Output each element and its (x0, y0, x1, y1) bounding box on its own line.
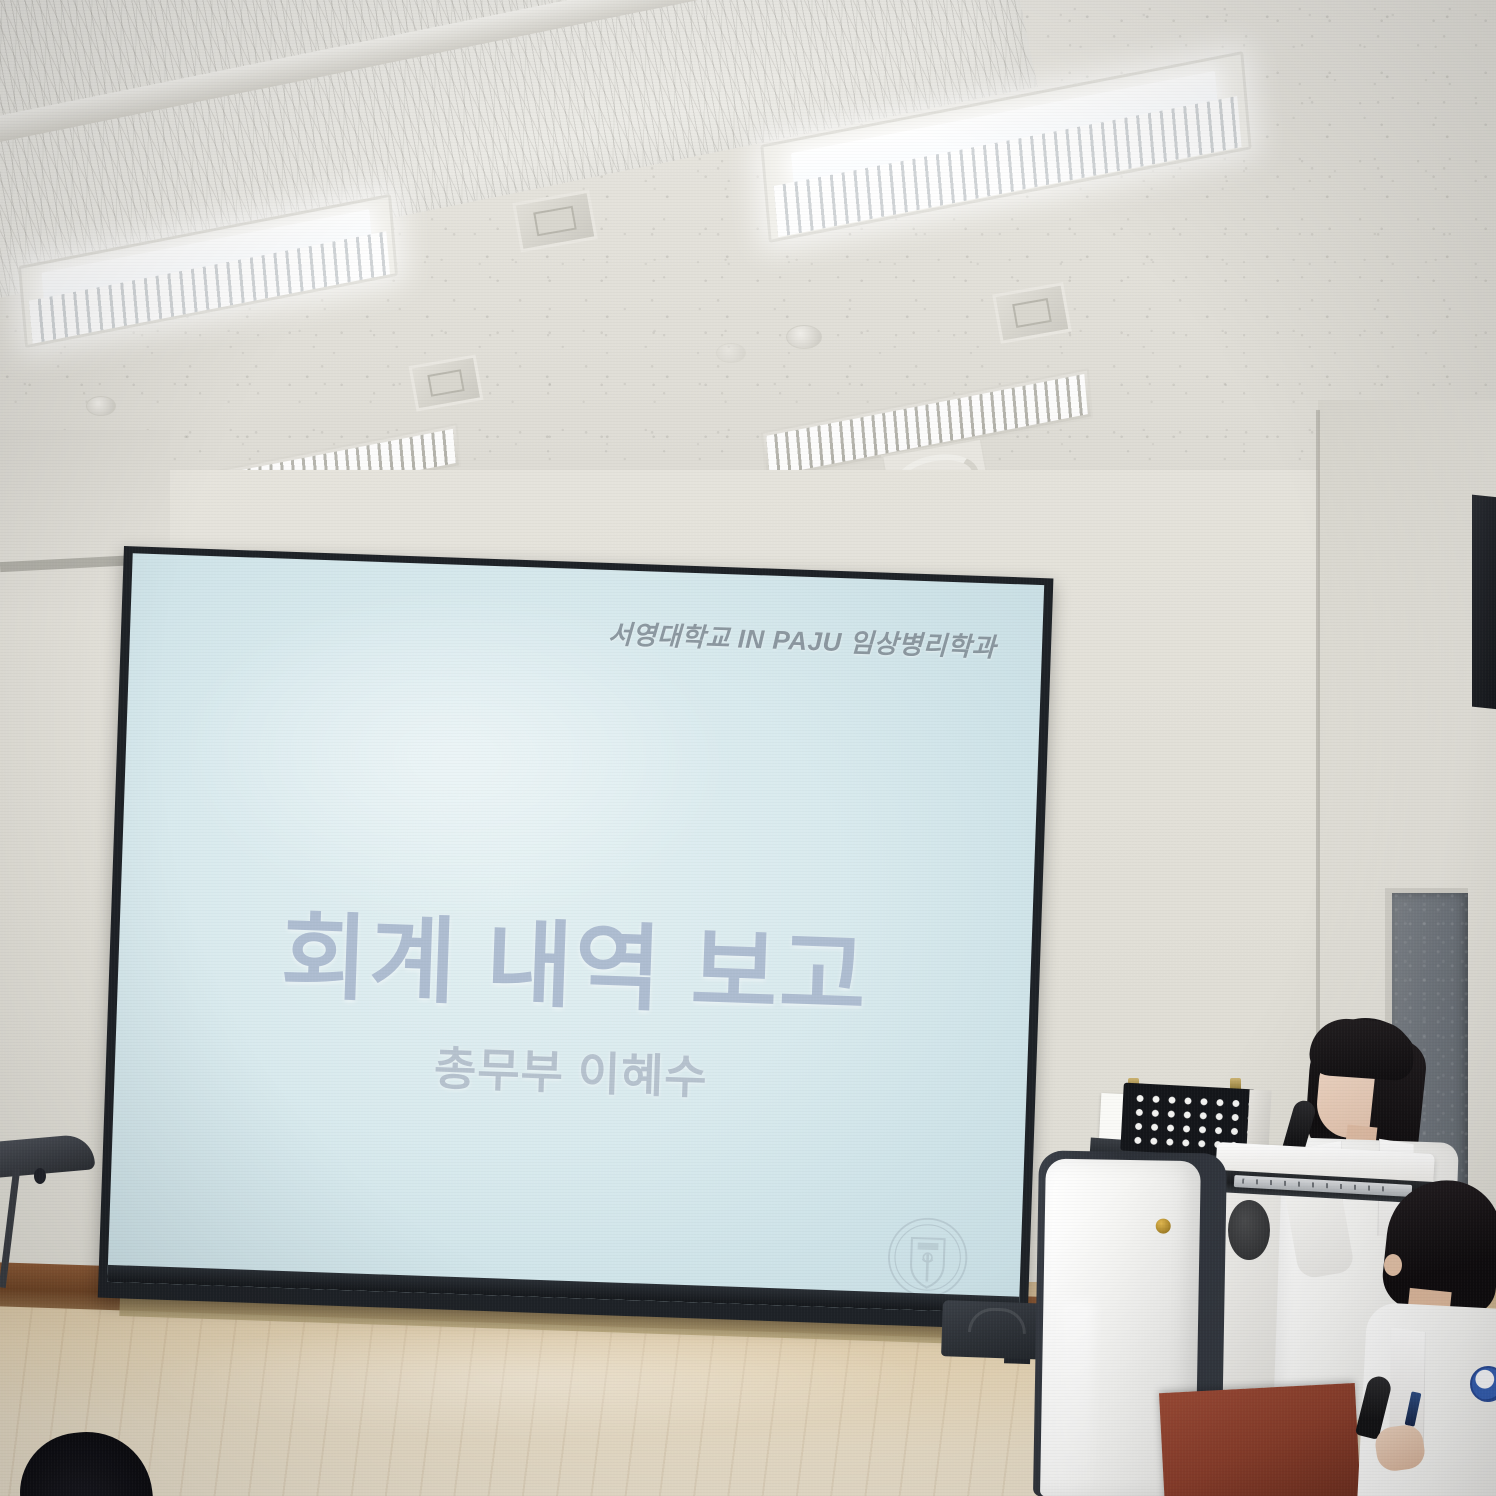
wall-display-edge (1472, 495, 1496, 710)
smoke-detector-c (86, 396, 116, 416)
presenter-hair-fringe (1308, 1016, 1416, 1081)
smoke-detector-a (786, 325, 822, 349)
university-seal-icon (883, 1213, 972, 1302)
wooden-bench-panel (1159, 1383, 1361, 1496)
smoke-detector-b (716, 343, 746, 363)
assistant-ear (1384, 1254, 1402, 1276)
air-purifier-highlight (1057, 1301, 1094, 1492)
projection-screen: 서영대학교 IN PAJU 임상병리학과 회계 내역 보고 총무부 이혜수 (98, 546, 1054, 1330)
lecture-hall-photo: 서영대학교 IN PAJU 임상병리학과 회계 내역 보고 총무부 이혜수 (0, 0, 1496, 1496)
slide-surface: 서영대학교 IN PAJU 임상병리학과 회계 내역 보고 총무부 이혜수 (107, 553, 1044, 1313)
keyboard-stand-knob (34, 1168, 46, 1184)
assistant-person (1356, 1180, 1496, 1496)
slide-title: 회계 내역 보고 (117, 875, 1033, 1043)
